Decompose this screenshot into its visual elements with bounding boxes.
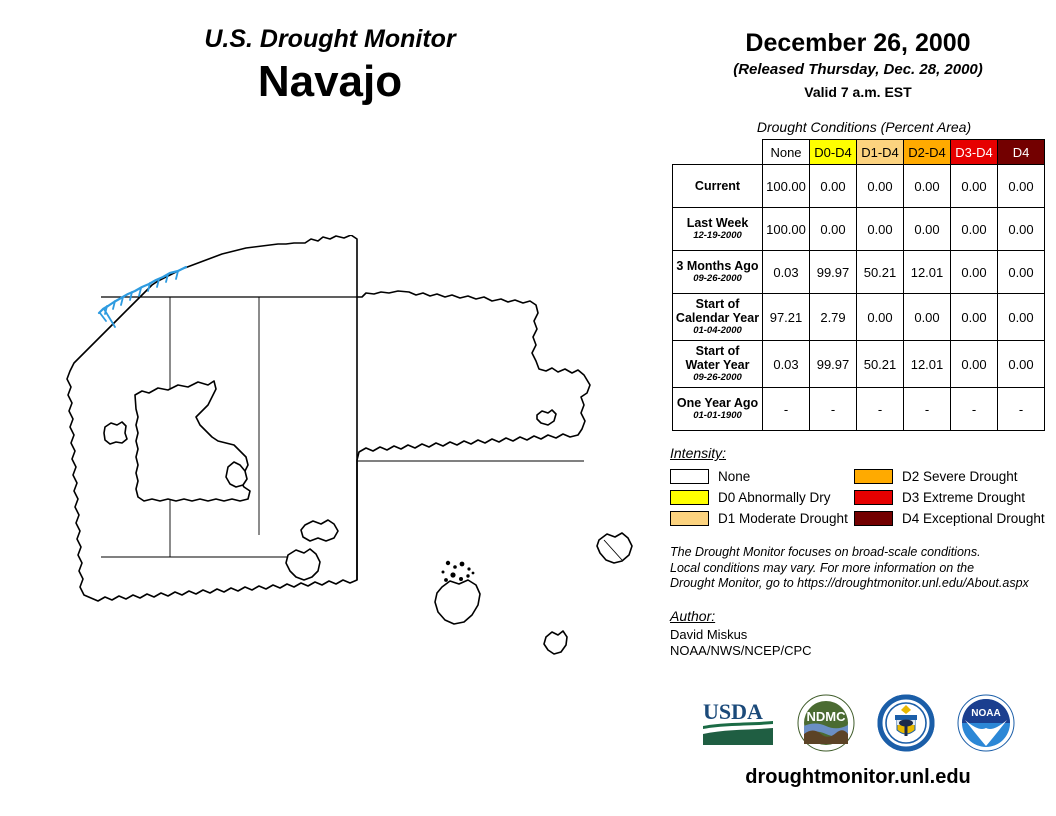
row-label-date: 09-26-2000 bbox=[675, 372, 760, 384]
interior-island-west bbox=[104, 422, 127, 444]
row-label-line: Water Year bbox=[686, 358, 750, 372]
author-block: Author: David Miskus NOAA/NWS/NCEP/CPC bbox=[670, 608, 1056, 659]
legend-label: D2 Severe Drought bbox=[902, 469, 1018, 484]
noaa-logo: NOAA bbox=[957, 694, 1015, 757]
row-label-date: 01-04-2000 bbox=[675, 325, 760, 337]
table-cell-d2d4: 0.00 bbox=[904, 294, 951, 341]
table-cell-d3d4: 0.00 bbox=[951, 251, 998, 294]
row-label-line: One Year Ago bbox=[677, 396, 758, 410]
table-cell-d4: - bbox=[998, 388, 1045, 431]
drought-conditions-table: None D0-D4 D1-D4 D2-D4 D3-D4 D4 Current1… bbox=[672, 139, 1045, 431]
drought-monitor-page: U.S. Drought Monitor Navajo bbox=[0, 0, 1056, 816]
row-label: Start ofCalendar Year01-04-2000 bbox=[673, 294, 763, 341]
table-cell-d1d4: 50.21 bbox=[857, 341, 904, 388]
table-cell-d1d4: 0.00 bbox=[857, 294, 904, 341]
region-title: Navajo bbox=[0, 56, 660, 108]
intensity-legend-title: Intensity: bbox=[670, 445, 1046, 461]
table-cell-d0d4: 2.79 bbox=[810, 294, 857, 341]
legend-label: D3 Extreme Drought bbox=[902, 490, 1025, 505]
row-label: Last Week12-19-2000 bbox=[673, 208, 763, 251]
table-cell-d2d4: - bbox=[904, 388, 951, 431]
table-cell-d1d4: 0.00 bbox=[857, 165, 904, 208]
legend-label: D4 Exceptional Drought bbox=[902, 511, 1045, 526]
usdc-seal-logo bbox=[877, 694, 935, 757]
legend-swatch-icon bbox=[670, 511, 709, 526]
intensity-legend-grid: NoneD2 Severe DroughtD0 Abnormally DryD3… bbox=[670, 466, 1046, 529]
intensity-legend: Intensity: NoneD2 Severe DroughtD0 Abnor… bbox=[670, 445, 1046, 529]
table-cell-d2d4: 12.01 bbox=[904, 341, 951, 388]
table-cell-none: 0.03 bbox=[763, 341, 810, 388]
table-cell-d0d4: 0.00 bbox=[810, 208, 857, 251]
disclaimer-line-3: Drought Monitor, go to https://droughtmo… bbox=[670, 576, 1050, 592]
table-caption: Drought Conditions (Percent Area) bbox=[672, 119, 1056, 135]
legend-item: D0 Abnormally Dry bbox=[670, 490, 854, 505]
map-svg bbox=[18, 235, 648, 685]
legend-swatch-icon bbox=[854, 490, 893, 505]
disclaimer-text: The Drought Monitor focuses on broad-sca… bbox=[670, 545, 1050, 592]
row-label-date: 12-19-2000 bbox=[675, 230, 760, 242]
row-label: 3 Months Ago09-26-2000 bbox=[673, 251, 763, 294]
ndmc-logo: NDMC bbox=[797, 694, 855, 757]
site-url[interactable]: droughtmonitor.unl.edu bbox=[660, 766, 1056, 789]
table-cell-none: 100.00 bbox=[763, 165, 810, 208]
table-cell-d1d4: - bbox=[857, 388, 904, 431]
drought-map[interactable] bbox=[18, 235, 648, 685]
row-label: One Year Ago01-01-1900 bbox=[673, 388, 763, 431]
table-cell-d3d4: 0.00 bbox=[951, 294, 998, 341]
table-cell-d0d4: 99.97 bbox=[810, 251, 857, 294]
row-label-date: 09-26-2000 bbox=[675, 273, 760, 285]
table-header: None D0-D4 D1-D4 D2-D4 D3-D4 D4 bbox=[673, 140, 1045, 165]
logo-row: USDA NDMC bbox=[660, 690, 1056, 760]
legend-label: D1 Moderate Drought bbox=[718, 511, 848, 526]
table-row: 3 Months Ago09-26-20000.0399.9750.2112.0… bbox=[673, 251, 1045, 294]
disclaimer-line-2: Local conditions may vary. For more info… bbox=[670, 561, 1050, 577]
table-cell-none: 97.21 bbox=[763, 294, 810, 341]
release-date: (Released Thursday, Dec. 28, 2000) bbox=[660, 60, 1056, 80]
column-header-d3d4: D3-D4 bbox=[951, 140, 998, 165]
legend-label: D0 Abnormally Dry bbox=[718, 490, 831, 505]
valid-time: Valid 7 a.m. EST bbox=[660, 83, 1056, 102]
row-label-line: Start of bbox=[696, 344, 740, 358]
right-panel: December 26, 2000 (Released Thursday, De… bbox=[660, 0, 1056, 816]
column-header-d4: D4 bbox=[998, 140, 1045, 165]
column-header-d2d4: D2-D4 bbox=[904, 140, 951, 165]
author-name: David Miskus bbox=[670, 627, 1056, 643]
table-row: Start ofCalendar Year01-04-200097.212.79… bbox=[673, 294, 1045, 341]
table-body: Current100.000.000.000.000.000.00Last We… bbox=[673, 165, 1045, 431]
table-corner-cell bbox=[673, 140, 763, 165]
table-cell-d4: 0.00 bbox=[998, 294, 1045, 341]
table-cell-d3d4: 0.00 bbox=[951, 341, 998, 388]
column-header-d0d4: D0-D4 bbox=[810, 140, 857, 165]
legend-item: D4 Exceptional Drought bbox=[854, 511, 1046, 526]
table-cell-d4: 0.00 bbox=[998, 208, 1045, 251]
row-label-line: Last Week bbox=[687, 216, 749, 230]
table-cell-d4: 0.00 bbox=[998, 341, 1045, 388]
table-cell-d3d4: 0.00 bbox=[951, 165, 998, 208]
author-label: Author: bbox=[670, 608, 1056, 624]
table-row: Start ofWater Year09-26-20000.0399.9750.… bbox=[673, 341, 1045, 388]
row-label: Current bbox=[673, 165, 763, 208]
table-cell-d1d4: 0.00 bbox=[857, 208, 904, 251]
detached-parcel-far-south bbox=[544, 631, 567, 654]
table-row: Current100.000.000.000.000.000.00 bbox=[673, 165, 1045, 208]
table-cell-d0d4: 0.00 bbox=[810, 165, 857, 208]
row-label-line: Calendar Year bbox=[676, 311, 759, 325]
table-cell-d2d4: 0.00 bbox=[904, 165, 951, 208]
page-title: U.S. Drought Monitor bbox=[0, 24, 660, 54]
author-affiliation: NOAA/NWS/NCEP/CPC bbox=[670, 643, 1056, 659]
table-cell-d4: 0.00 bbox=[998, 251, 1045, 294]
table-cell-d0d4: - bbox=[810, 388, 857, 431]
svg-text:NOAA: NOAA bbox=[971, 708, 1000, 719]
table-cell-d2d4: 12.01 bbox=[904, 251, 951, 294]
row-label-date: 01-01-1900 bbox=[675, 410, 760, 422]
svg-text:NDMC: NDMC bbox=[807, 709, 847, 724]
row-label-line: 3 Months Ago bbox=[676, 259, 758, 273]
table-cell-d2d4: 0.00 bbox=[904, 208, 951, 251]
legend-swatch-icon bbox=[670, 469, 709, 484]
table-cell-d4: 0.00 bbox=[998, 165, 1045, 208]
valid-date: December 26, 2000 bbox=[660, 28, 1056, 58]
table-cell-none: 100.00 bbox=[763, 208, 810, 251]
table-cell-d1d4: 50.21 bbox=[857, 251, 904, 294]
legend-swatch-icon bbox=[670, 490, 709, 505]
row-label-line: Current bbox=[695, 179, 740, 193]
table-cell-d3d4: 0.00 bbox=[951, 208, 998, 251]
legend-item: D3 Extreme Drought bbox=[854, 490, 1046, 505]
legend-label: None bbox=[718, 469, 750, 484]
svg-text:USDA: USDA bbox=[703, 699, 763, 724]
table-row: One Year Ago01-01-1900------ bbox=[673, 388, 1045, 431]
row-label-line: Start of bbox=[696, 297, 740, 311]
row-label: Start ofWater Year09-26-2000 bbox=[673, 341, 763, 388]
table-header-row: None D0-D4 D1-D4 D2-D4 D3-D4 D4 bbox=[673, 140, 1045, 165]
table-cell-none: 0.03 bbox=[763, 251, 810, 294]
legend-item: D1 Moderate Drought bbox=[670, 511, 854, 526]
detached-parcel-cluster-main bbox=[435, 580, 480, 624]
detached-parcel-east bbox=[597, 533, 632, 563]
usda-logo: USDA bbox=[701, 698, 775, 753]
table-cell-d0d4: 99.97 bbox=[810, 341, 857, 388]
table-row: Last Week12-19-2000100.000.000.000.000.0… bbox=[673, 208, 1045, 251]
title-block: U.S. Drought Monitor Navajo bbox=[0, 24, 660, 108]
table-cell-d3d4: - bbox=[951, 388, 998, 431]
legend-item: None bbox=[670, 469, 854, 484]
disclaimer-line-1: The Drought Monitor focuses on broad-sca… bbox=[670, 545, 1050, 561]
legend-item: D2 Severe Drought bbox=[854, 469, 1046, 484]
date-block: December 26, 2000 (Released Thursday, De… bbox=[660, 0, 1056, 102]
column-header-d1d4: D1-D4 bbox=[857, 140, 904, 165]
legend-swatch-icon bbox=[854, 469, 893, 484]
legend-swatch-icon bbox=[854, 511, 893, 526]
table-cell-none: - bbox=[763, 388, 810, 431]
column-header-none: None bbox=[763, 140, 810, 165]
